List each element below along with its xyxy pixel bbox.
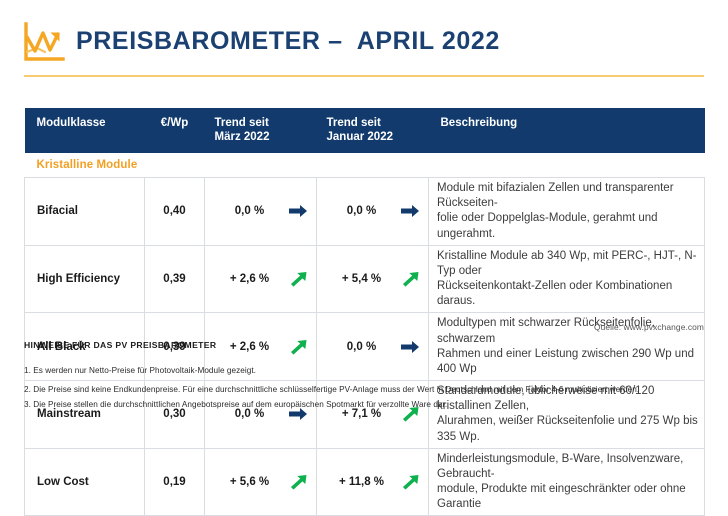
- beschreibung-line1: Module mit bifazialen Zellen und transpa…: [437, 181, 698, 211]
- column-header-trend-januar: Trend seit Januar 2022: [317, 108, 429, 153]
- source-label: Quelle: www.pvxchange.com: [594, 322, 704, 332]
- beschreibung-line2: Rahmen und einer Leistung zwischen 290 W…: [437, 347, 698, 377]
- beschreibung-line1: Kristalline Module ab 340 Wp, mit PERC-,…: [437, 249, 698, 279]
- beschreibung-line2: module, Produkte mit eingeschränkter ode…: [437, 482, 698, 512]
- arrow-up-right-icon: [400, 474, 420, 490]
- page-header: PREISBAROMETER – APRIL 2022: [0, 0, 728, 80]
- beschreibung-line2: Alurahmen, weißer Rückseitenfolie und 27…: [437, 414, 698, 444]
- notes-title: HINWEISE FÜR DAS PV PREISBAROMETER: [24, 340, 216, 350]
- trend-maerz-value: 0,0 %: [213, 408, 286, 420]
- arrow-up-right-icon: [288, 339, 308, 355]
- column-header-trend-januar-line2: Januar 2022: [327, 130, 429, 144]
- cell-preis: 0,40: [145, 178, 205, 246]
- cell-modulklasse: Bifacial: [25, 178, 145, 246]
- arrow-right-icon: [400, 339, 420, 355]
- cell-trend-maerz: + 5,6 %: [205, 448, 317, 516]
- cell-beschreibung: Minderleistungsmodule, B-Ware, Insolvenz…: [429, 448, 705, 516]
- arrow-up-right-icon: [288, 474, 308, 490]
- table-group-row: Kristalline Module: [25, 153, 705, 178]
- table-header-row: Modulklasse €/Wp Trend seit März 2022 Tr…: [25, 108, 705, 153]
- trend-januar-value: 0,0 %: [325, 205, 398, 217]
- table-row: Bifacial 0,40 0,0 % 0,0 %: [25, 178, 705, 246]
- line-chart-up-icon: [21, 21, 67, 65]
- arrow-right-icon: [288, 203, 308, 219]
- column-header-trend-januar-line1: Trend seit: [327, 116, 429, 130]
- note-item: 3. Die Preise stellen die durchschnittli…: [24, 400, 447, 409]
- trend-januar-value: + 7,1 %: [325, 408, 398, 420]
- cell-beschreibung: Module mit bifazialen Zellen und transpa…: [429, 178, 705, 246]
- column-header-trend-maerz: Trend seit März 2022: [205, 108, 317, 153]
- arrow-up-right-icon: [400, 271, 420, 287]
- header-divider: [24, 75, 704, 77]
- cell-trend-januar: + 5,4 %: [317, 245, 429, 313]
- table-row: Low Cost 0,19 + 5,6 % + 11,8 %: [25, 448, 705, 516]
- trend-januar-value: + 5,4 %: [325, 273, 398, 285]
- cell-trend-maerz: 0,0 %: [205, 178, 317, 246]
- beschreibung-line2: folie oder Doppelglas-Module, gerahmt un…: [437, 211, 698, 241]
- trend-maerz-value: 0,0 %: [213, 205, 286, 217]
- page-title: PREISBAROMETER – APRIL 2022: [76, 27, 500, 56]
- column-header-trend-maerz-line2: März 2022: [215, 130, 317, 144]
- beschreibung-line1: Minderleistungsmodule, B-Ware, Insolvenz…: [437, 452, 698, 482]
- cell-beschreibung: Kristalline Module ab 340 Wp, mit PERC-,…: [429, 245, 705, 313]
- group-label-kristalline-module: Kristalline Module: [25, 153, 705, 178]
- beschreibung-line2: Rückseitenkontakt-Zellen oder Kombinatio…: [437, 279, 698, 309]
- trend-maerz-value: + 5,6 %: [213, 476, 286, 488]
- cell-preis: 0,39: [145, 245, 205, 313]
- cell-preis: 0,19: [145, 448, 205, 516]
- column-header-preis: €/Wp: [145, 108, 205, 153]
- cell-trend-januar: 0,0 %: [317, 313, 429, 381]
- table-header: Modulklasse €/Wp Trend seit März 2022 Tr…: [25, 108, 705, 153]
- trend-maerz-value: + 2,6 %: [213, 341, 286, 353]
- cell-trend-maerz: + 2,6 %: [205, 245, 317, 313]
- trend-januar-value: 0,0 %: [325, 341, 398, 353]
- note-item: 2. Die Preise sind keine Endkundenpreise…: [24, 385, 639, 394]
- arrow-right-icon: [400, 203, 420, 219]
- cell-trend-januar: + 11,8 %: [317, 448, 429, 516]
- price-table: Modulklasse €/Wp Trend seit März 2022 Tr…: [24, 108, 705, 516]
- table-body: Kristalline Module Bifacial 0,40 0,0 %: [25, 153, 705, 516]
- trend-januar-value: + 11,8 %: [325, 476, 398, 488]
- note-item: 1. Es werden nur Netto-Preise für Photov…: [24, 366, 256, 375]
- arrow-up-right-icon: [288, 271, 308, 287]
- column-header-modulklasse: Modulklasse: [25, 108, 145, 153]
- preisbarometer-page: PREISBAROMETER – APRIL 2022 Modulklasse …: [0, 0, 728, 440]
- column-header-beschreibung: Beschreibung: [429, 108, 705, 153]
- cell-modulklasse: Low Cost: [25, 448, 145, 516]
- column-header-trend-maerz-line1: Trend seit: [215, 116, 317, 130]
- cell-trend-januar: 0,0 %: [317, 178, 429, 246]
- cell-modulklasse: High Efficiency: [25, 245, 145, 313]
- table-row: High Efficiency 0,39 + 2,6 % + 5,4 %: [25, 245, 705, 313]
- trend-maerz-value: + 2,6 %: [213, 273, 286, 285]
